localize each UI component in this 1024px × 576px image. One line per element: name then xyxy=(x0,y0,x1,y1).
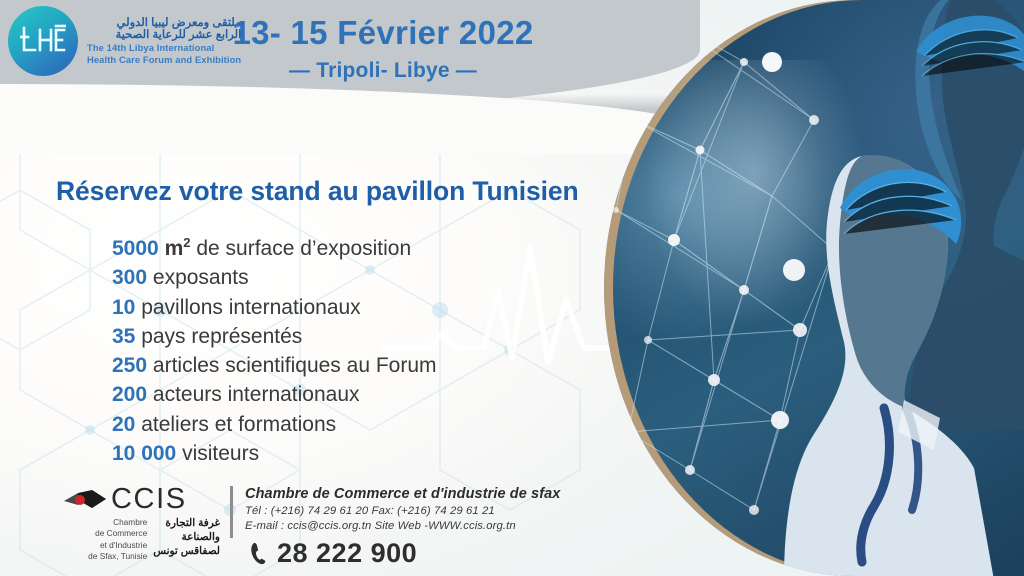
list-item: 10 000 visiteurs xyxy=(112,439,437,468)
contact-block: Chambre de Commerce et d'industrie de sf… xyxy=(245,484,560,532)
stat-number: 5000 xyxy=(112,237,159,260)
contact-phone: 28 222 900 xyxy=(250,538,417,569)
event-date-range: 13- 15 Février 2022 xyxy=(218,16,548,51)
phone-number: 28 222 900 xyxy=(277,538,417,569)
ccis-french-line: de Sfax, Tunisie xyxy=(62,551,147,562)
event-banner: ملتقى ومعرض ليبيا الدولي الرابع عشر للرع… xyxy=(0,0,1024,576)
stat-label: visiteurs xyxy=(182,442,259,465)
lhe-logo-icon xyxy=(8,6,78,76)
ccis-arrow-icon xyxy=(62,484,108,514)
ccis-french-line: de Commerce xyxy=(62,528,147,539)
ccis-french-line: Chambre xyxy=(62,517,147,528)
organization-title: Chambre de Commerce et d'industrie de sf… xyxy=(245,486,560,502)
lhe-monogram-icon xyxy=(20,24,66,58)
stat-number: 35 xyxy=(112,325,135,348)
list-item: 35 pays représentés xyxy=(112,322,437,351)
phone-icon xyxy=(250,542,269,565)
stat-label: articles scientifiques au Forum xyxy=(153,354,437,377)
stat-label: pays représentés xyxy=(141,325,302,348)
medic-figure-front xyxy=(744,150,994,576)
ccis-french-line: et d'Industrie xyxy=(62,540,147,551)
ccis-wordmark: CCIS xyxy=(111,485,187,514)
stat-number: 250 xyxy=(112,354,147,377)
footer-divider xyxy=(230,486,233,538)
ccis-arabic-line: والصناعة xyxy=(153,531,220,545)
stat-number: 200 xyxy=(112,383,147,406)
list-item: 300 exposants xyxy=(112,263,437,292)
list-item: 10 pavillons internationaux xyxy=(112,293,437,322)
stat-label: ateliers et formations xyxy=(141,413,336,436)
event-dates: 13- 15 Février 2022 — Tripoli- Libye — xyxy=(218,16,548,83)
ccis-arabic-line: لصفاقس تونس xyxy=(153,545,220,559)
page-title: Réservez votre stand au pavillon Tunisie… xyxy=(56,176,579,207)
ccis-french-lines: Chambrede Commerceet d'Industriede Sfax,… xyxy=(62,517,147,563)
ccis-arabic-line: غرفة التجارة xyxy=(153,517,220,531)
list-item: 250 articles scientifiques au Forum xyxy=(112,351,437,380)
stat-number: 10 000 xyxy=(112,442,176,465)
stat-label: de surface d’exposition xyxy=(196,237,411,260)
statistics-list: 5000 m2 de surface d’exposition300 expos… xyxy=(112,234,437,468)
list-item: 200 acteurs internationaux xyxy=(112,380,437,409)
ccis-logo: CCIS Chambrede Commerceet d'Industriede … xyxy=(62,484,220,563)
stat-label: exposants xyxy=(153,266,249,289)
list-item: 20 ateliers et formations xyxy=(112,410,437,439)
event-location: — Tripoli- Libye — xyxy=(218,59,548,83)
list-item: 5000 m2 de surface d’exposition xyxy=(112,234,437,263)
stat-number: 20 xyxy=(112,413,135,436)
ccis-arabic-lines: غرفة التجارةوالصناعةلصفاقس تونس xyxy=(153,517,220,563)
stat-label: pavillons internationaux xyxy=(141,296,360,319)
stat-number: 10 xyxy=(112,296,135,319)
email-website-line: E-mail : ccis@ccis.org.tn Site Web -WWW.… xyxy=(245,520,560,532)
stat-label: acteurs internationaux xyxy=(153,383,360,406)
medical-photo-panel xyxy=(604,0,1024,576)
event-logo: ملتقى ومعرض ليبيا الدولي الرابع عشر للرع… xyxy=(8,6,241,76)
stat-unit: m2 xyxy=(165,237,191,260)
telephone-fax-line: Tél : (+216) 74 29 61 20 Fax: (+216) 74 … xyxy=(245,505,560,517)
stat-number: 300 xyxy=(112,266,147,289)
